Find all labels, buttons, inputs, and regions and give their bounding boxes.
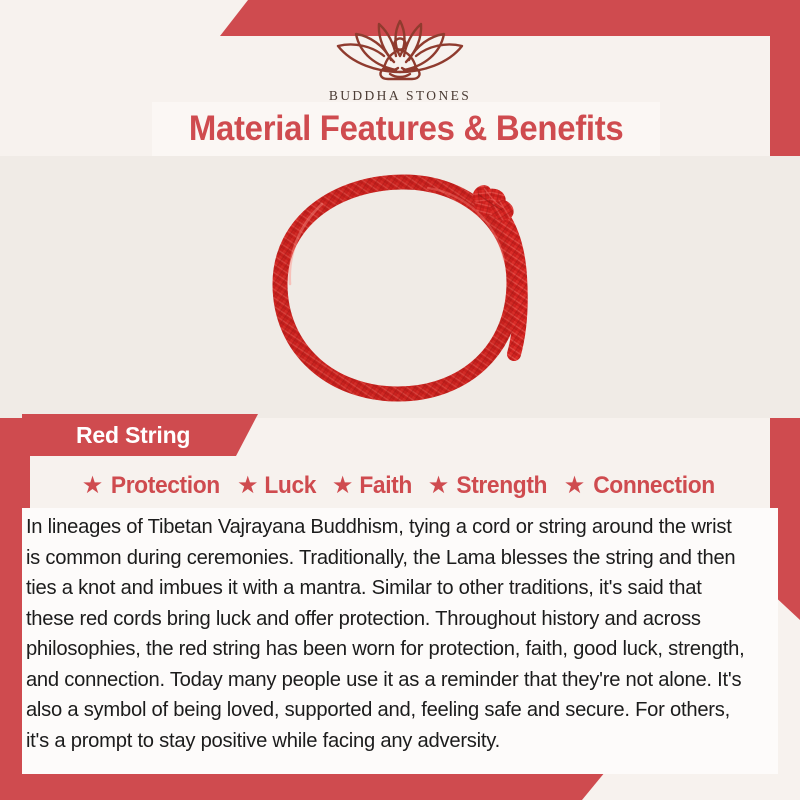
benefit-item: ★ Protection [82,472,223,500]
page-title: Material Features & Benefits [189,109,624,149]
title-band: Material Features & Benefits [152,102,660,156]
benefit-item: ★ Strength [428,472,550,500]
product-image-area [0,156,800,418]
brand-logo: BUDDHA STONES [0,16,800,104]
benefit-item: ★ Connection [564,472,719,500]
red-string-bracelet-image [232,164,572,414]
description-panel: In lineages of Tibetan Vajrayana Buddhis… [22,508,778,774]
benefit-item: ★ Luck [237,472,318,500]
lotus-meditation-icon [316,16,484,86]
star-icon: ★ [82,474,104,498]
benefit-label: Strength [457,472,548,500]
benefit-item: ★ Faith [332,472,414,500]
star-icon: ★ [428,474,450,498]
product-label-banner: Red String [22,414,258,456]
benefit-label: Luck [265,472,317,500]
star-icon: ★ [564,474,586,498]
benefit-label: Protection [111,472,220,500]
product-label: Red String [22,422,190,449]
benefits-row: ★ Protection ★ Luck ★ Faith ★ Strength ★… [30,466,770,506]
benefit-label: Connection [593,472,715,500]
star-icon: ★ [237,474,259,498]
product-feature-poster: BUDDHA STONES Material Features & Benefi… [0,0,800,800]
star-icon: ★ [332,474,354,498]
benefit-label: Faith [360,472,413,500]
description-text: In lineages of Tibetan Vajrayana Buddhis… [22,508,767,756]
